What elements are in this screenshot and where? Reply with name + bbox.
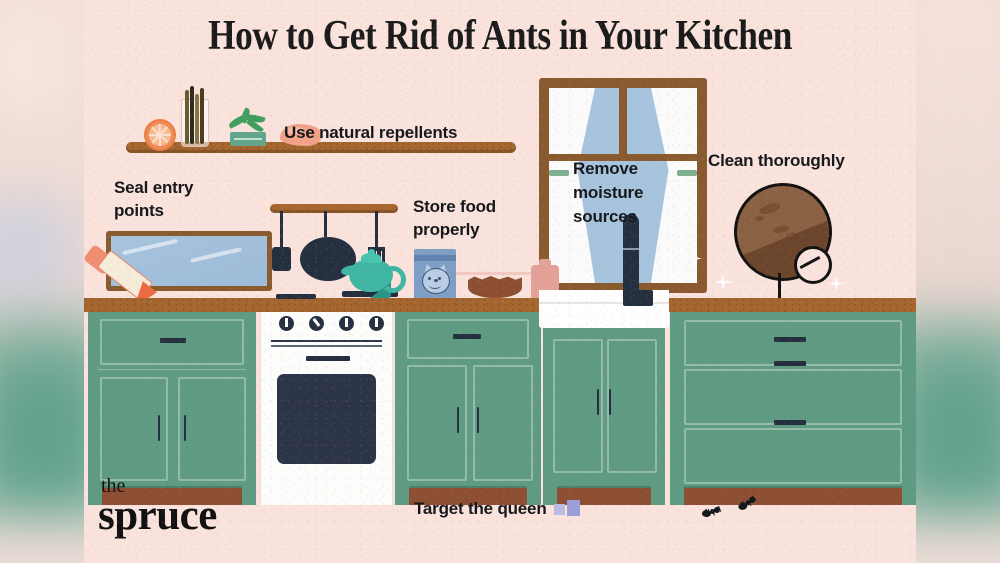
- infographic-canvas: How to Get Rid of Ants in Your Kitchen U…: [0, 0, 1000, 563]
- drawer: [684, 320, 902, 366]
- ant-icon: [702, 506, 724, 520]
- brand-logo-spruce: spruce: [98, 494, 217, 537]
- countertop: [84, 298, 916, 312]
- drawer: [684, 369, 902, 425]
- label-store-food-line2: properly: [413, 219, 479, 241]
- blurred-backdrop-left: [0, 0, 84, 563]
- food-shelf: [447, 272, 539, 275]
- label-seal-entry-points-line2: points: [114, 200, 164, 222]
- blurred-backdrop-right: [916, 0, 1000, 563]
- label-remove-moisture-line2: moisture: [573, 182, 643, 204]
- page-title: How to Get Rid of Ants in Your Kitchen: [151, 12, 850, 60]
- stove-knob: [279, 316, 294, 331]
- label-use-natural-repellents: Use natural repellents: [284, 122, 457, 144]
- spatula-icon: [280, 211, 283, 259]
- orange-slice-icon: [144, 119, 176, 151]
- stove-knob: [339, 316, 354, 331]
- cinnamon-stick-jar-icon: [181, 99, 209, 147]
- stove-grate: [276, 294, 316, 299]
- frying-pan-icon: [324, 211, 327, 271]
- utensil-rail: [270, 204, 398, 213]
- stove-knob: [309, 316, 324, 331]
- stove-knob: [369, 316, 384, 331]
- infographic-panel: How to Get Rid of Ants in Your Kitchen U…: [84, 0, 916, 563]
- label-clean-thoroughly: Clean thoroughly: [708, 150, 845, 172]
- drawer: [684, 428, 902, 484]
- label-store-food-line1: Store food: [413, 196, 496, 218]
- oven-handle: [306, 356, 350, 361]
- cabinet-middle[interactable]: [395, 311, 541, 505]
- teapot-icon: [343, 250, 405, 294]
- potted-plant-icon: [224, 112, 270, 146]
- stove[interactable]: [260, 304, 393, 505]
- cat-food-box-icon: [414, 249, 456, 301]
- toe-kick: [684, 486, 902, 505]
- label-seal-entry-points-line1: Seal entry: [114, 177, 193, 199]
- drawer-bank[interactable]: [670, 311, 916, 505]
- prohibited-icon: [794, 246, 832, 284]
- label-target-the-queen: Target the queen: [414, 498, 547, 520]
- oven-door[interactable]: [277, 374, 376, 464]
- label-remove-moisture-line1: Remove: [573, 158, 638, 180]
- brand-logo: the spruce: [98, 476, 217, 537]
- label-remove-moisture-line3: sources: [573, 206, 637, 228]
- cabinet-sink[interactable]: [543, 311, 665, 505]
